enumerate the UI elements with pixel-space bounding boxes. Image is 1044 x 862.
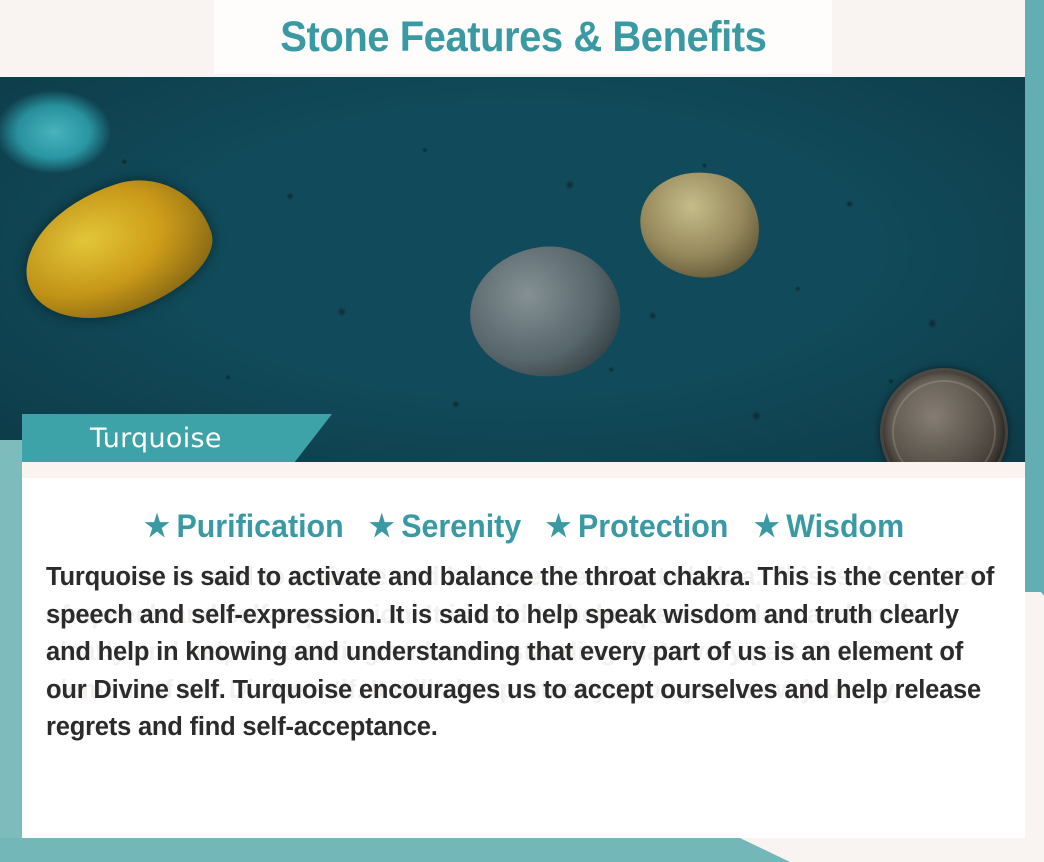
star-icon: ★: [145, 512, 171, 542]
bottom-edge-bar: [0, 838, 790, 862]
photo-vignette: [0, 77, 1036, 462]
right-edge-bar: [1025, 0, 1044, 592]
star-icon: ★: [546, 512, 572, 542]
feature-label: Protection: [578, 508, 728, 545]
feature-label: Wisdom: [786, 508, 904, 545]
feature-item-purification: ★ Purification: [145, 508, 344, 545]
page-title: Stone Features & Benefits: [280, 13, 766, 62]
star-icon: ★: [754, 512, 780, 542]
feature-label: Serenity: [401, 508, 521, 545]
content-panel: ★ Purification ★ Serenity ★ Protection ★…: [22, 478, 1025, 838]
photo-canvas: [0, 77, 1036, 462]
star-icon: ★: [369, 512, 395, 542]
description-text: Turquoise is said to activate and balanc…: [46, 559, 1001, 747]
turquoise-stones-photo: [0, 77, 1036, 462]
feature-item-serenity: ★ Serenity: [369, 508, 521, 545]
feature-item-protection: ★ Protection: [546, 508, 729, 545]
slide-root: Stone Features & Benefits Turquoise ★ Pu…: [0, 0, 1044, 862]
feature-list: ★ Purification ★ Serenity ★ Protection ★…: [22, 478, 1025, 545]
title-box: Stone Features & Benefits: [214, 0, 832, 74]
left-edge-bar: [0, 440, 22, 862]
feature-label: Purification: [177, 508, 344, 545]
stone-name: Turquoise: [22, 423, 222, 454]
feature-item-wisdom: ★ Wisdom: [754, 508, 904, 545]
stone-name-banner: Turquoise: [22, 414, 332, 462]
description-block: Turquoise is said to activate and balanc…: [46, 559, 1001, 747]
